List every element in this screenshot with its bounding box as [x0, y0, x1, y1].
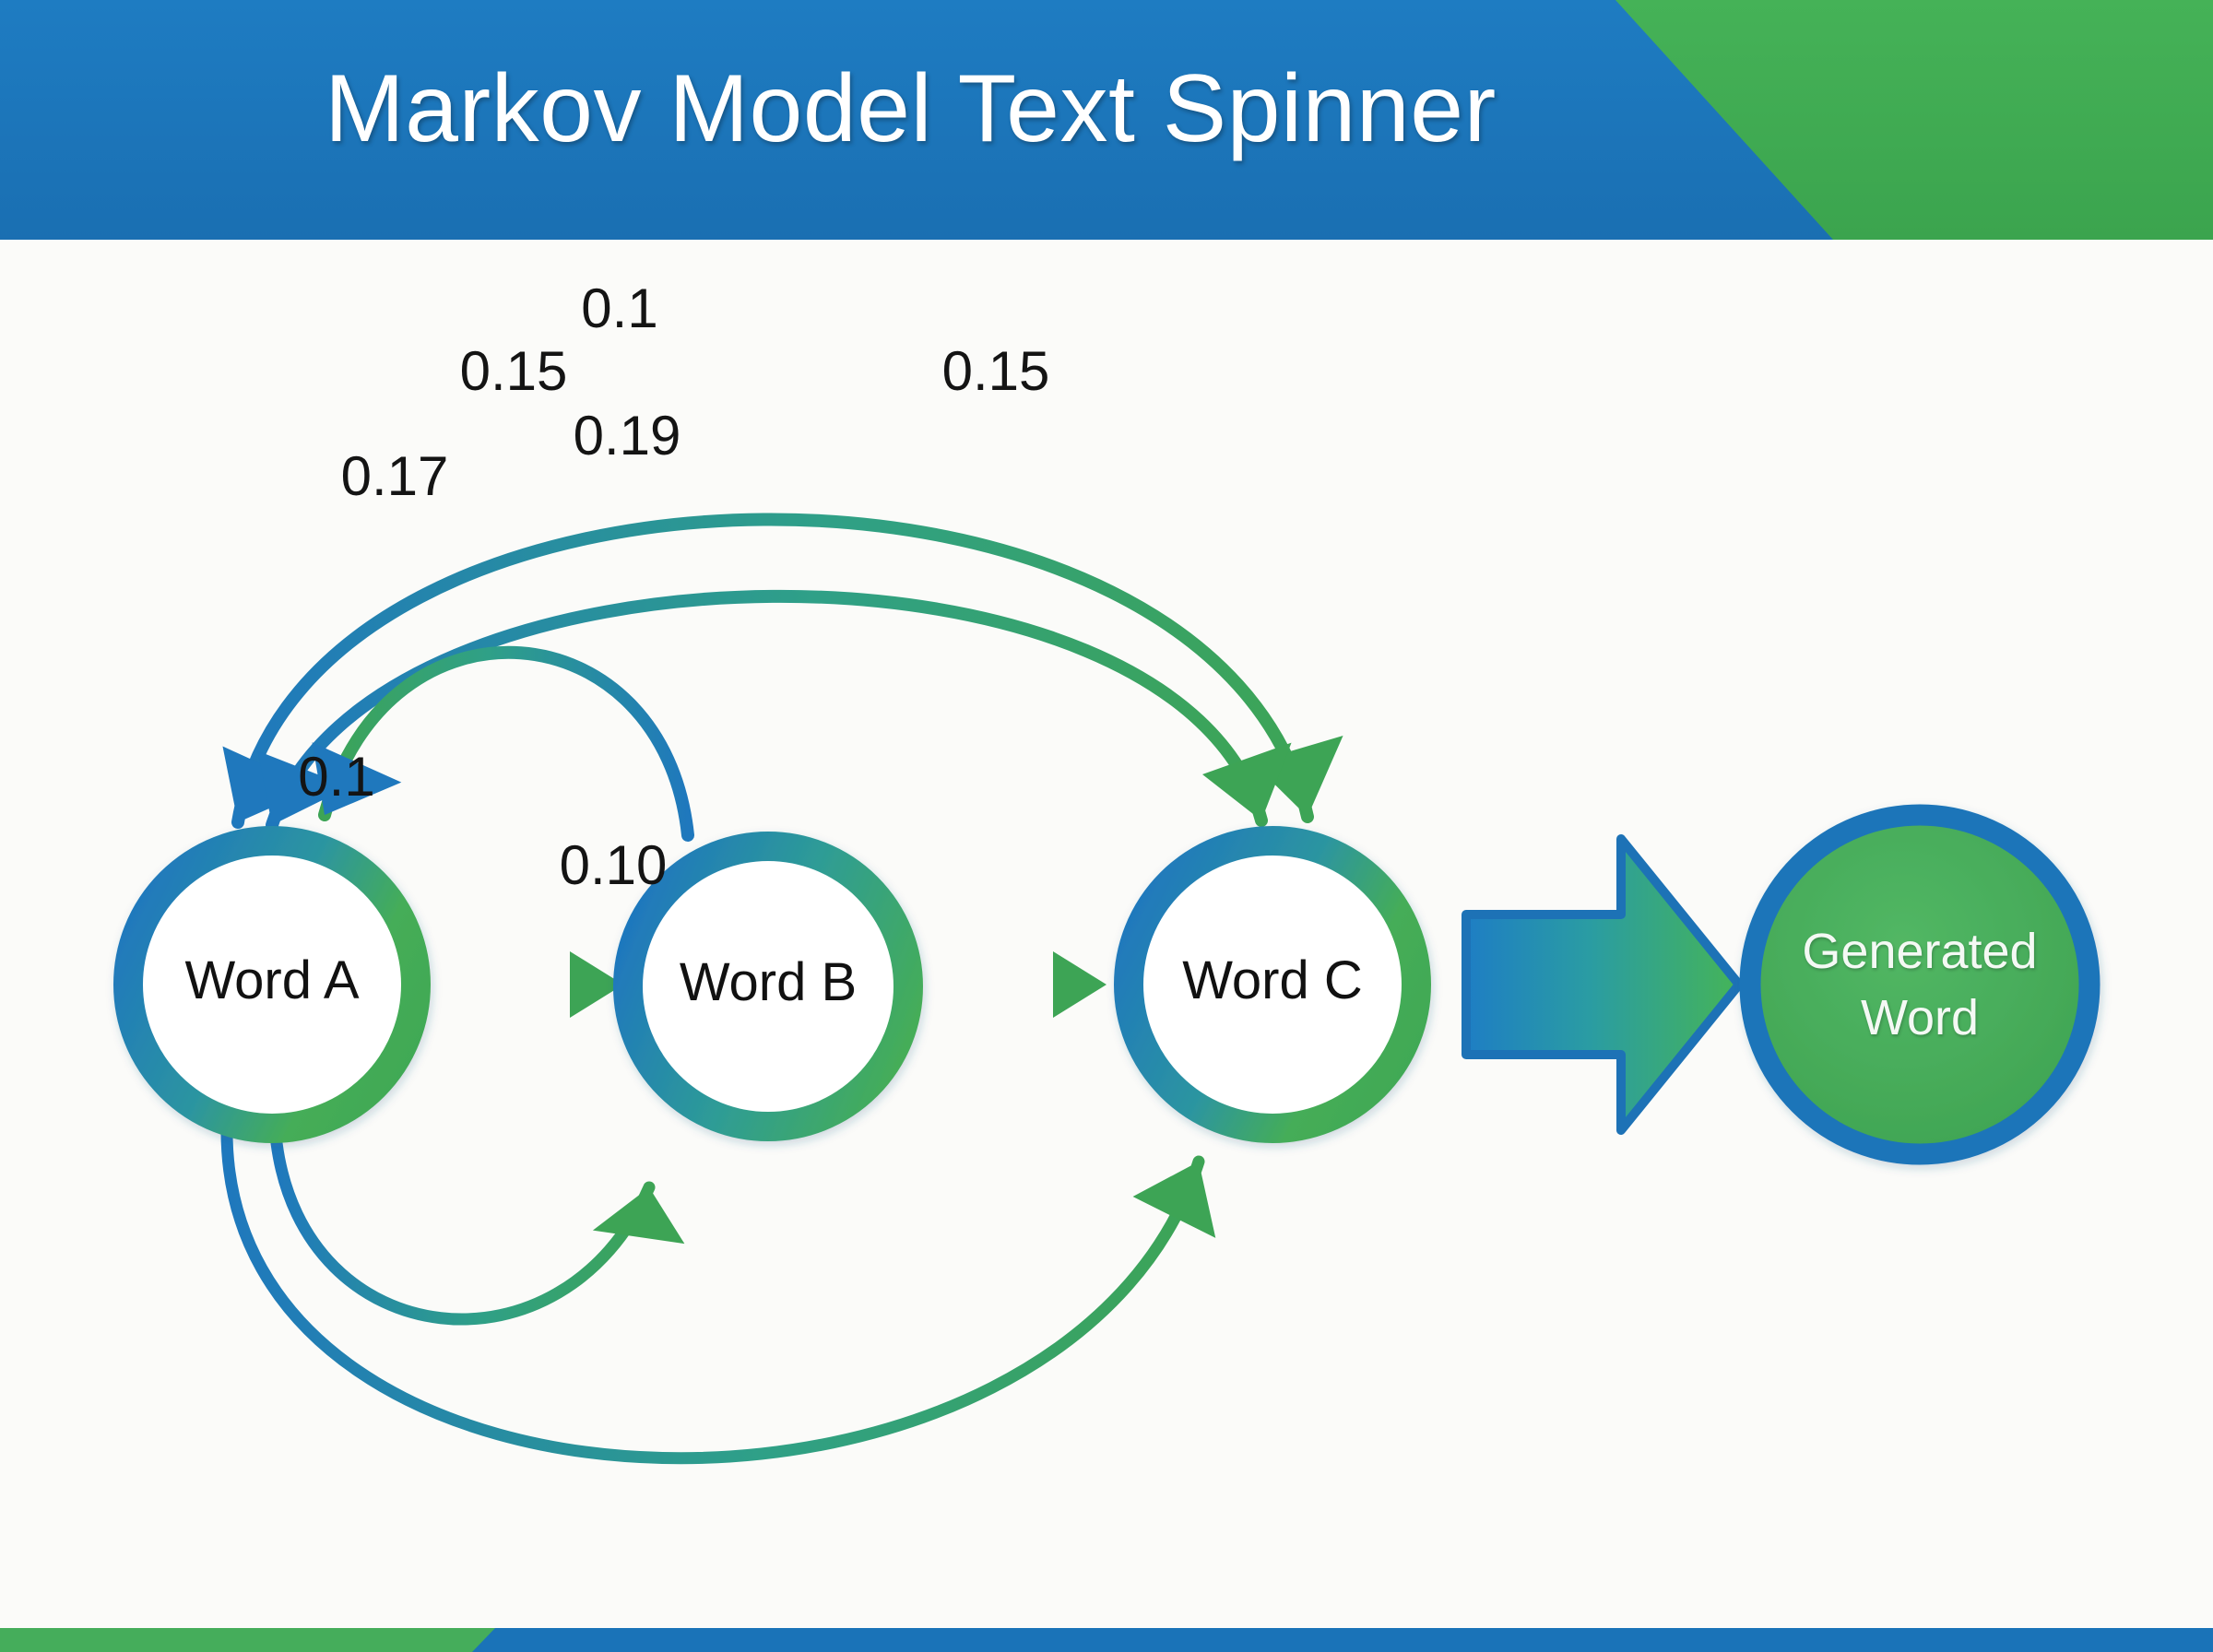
page-title: Markov Model Text Spinner	[325, 24, 1911, 208]
edge-a-b-bottom-short	[277, 1143, 695, 1319]
node-layer	[128, 815, 2089, 1154]
output-block-arrow-icon	[1466, 839, 1739, 1130]
node-word-c-circle	[1129, 841, 1416, 1128]
edge-a-c-top-inner	[239, 596, 1308, 843]
page-header: Markov Model Text Spinner	[0, 0, 2213, 240]
edge-a-c-bottom-long	[227, 1127, 1240, 1458]
node-generated-word-circle	[1750, 815, 2089, 1154]
diagram-svg	[0, 240, 2213, 1628]
node-word-a-circle	[128, 841, 416, 1128]
markov-diagram-page: Markov Model Text Spinner	[0, 0, 2213, 1652]
edge-a-b-straight	[432, 951, 623, 1018]
markov-chain-diagram: Word A Word B Word C Generated Word 0.1 …	[0, 240, 2213, 1628]
edge-b-a-top-short	[289, 653, 688, 837]
node-word-b-circle	[628, 846, 908, 1127]
page-footer	[0, 1628, 2213, 1652]
edge-b-c-straight	[926, 951, 1106, 1018]
footer-background	[0, 1628, 2213, 1652]
